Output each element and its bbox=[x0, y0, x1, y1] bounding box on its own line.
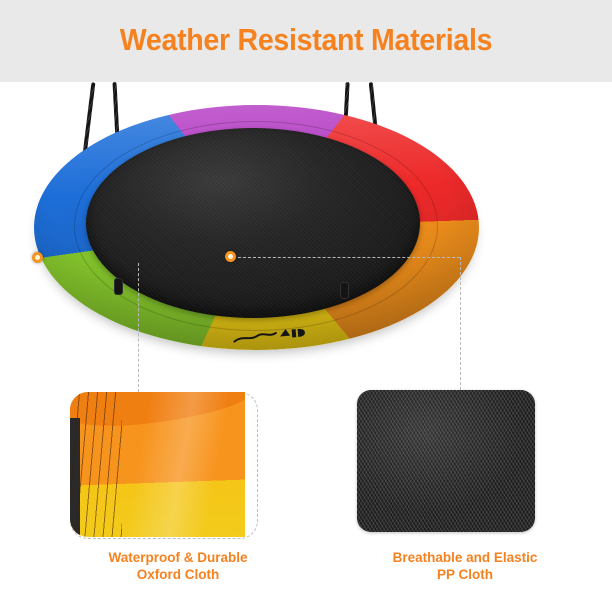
leader-line-pp-horizontal bbox=[238, 257, 460, 258]
caption-pp-line1: Breathable and Elastic bbox=[393, 550, 538, 565]
callout-dot-oxford[interactable] bbox=[32, 252, 43, 263]
product-hero-stage bbox=[0, 82, 612, 382]
pp-cloth-swatch bbox=[357, 390, 535, 532]
rope-buckle-right bbox=[340, 282, 349, 299]
caption-oxford: Waterproof & Durable Oxford Cloth bbox=[58, 549, 298, 583]
oxford-sheen bbox=[70, 392, 245, 537]
callout-dot-pp[interactable] bbox=[225, 251, 236, 262]
leader-line-oxford-vertical bbox=[138, 263, 139, 392]
caption-oxford-line1: Waterproof & Durable bbox=[108, 550, 247, 565]
caption-pp: Breathable and Elastic PP Cloth bbox=[340, 549, 590, 583]
seat-pp-cloth bbox=[86, 128, 420, 318]
rope-buckle-left bbox=[114, 278, 123, 295]
caption-pp-line2: PP Cloth bbox=[340, 566, 590, 583]
leader-line-pp-vertical bbox=[460, 257, 461, 390]
caption-oxford-line2: Oxford Cloth bbox=[58, 566, 298, 583]
saucer-swing bbox=[34, 105, 479, 350]
oxford-cloth-swatch bbox=[70, 392, 245, 537]
page-title: Weather Resistant Materials bbox=[24, 22, 587, 58]
